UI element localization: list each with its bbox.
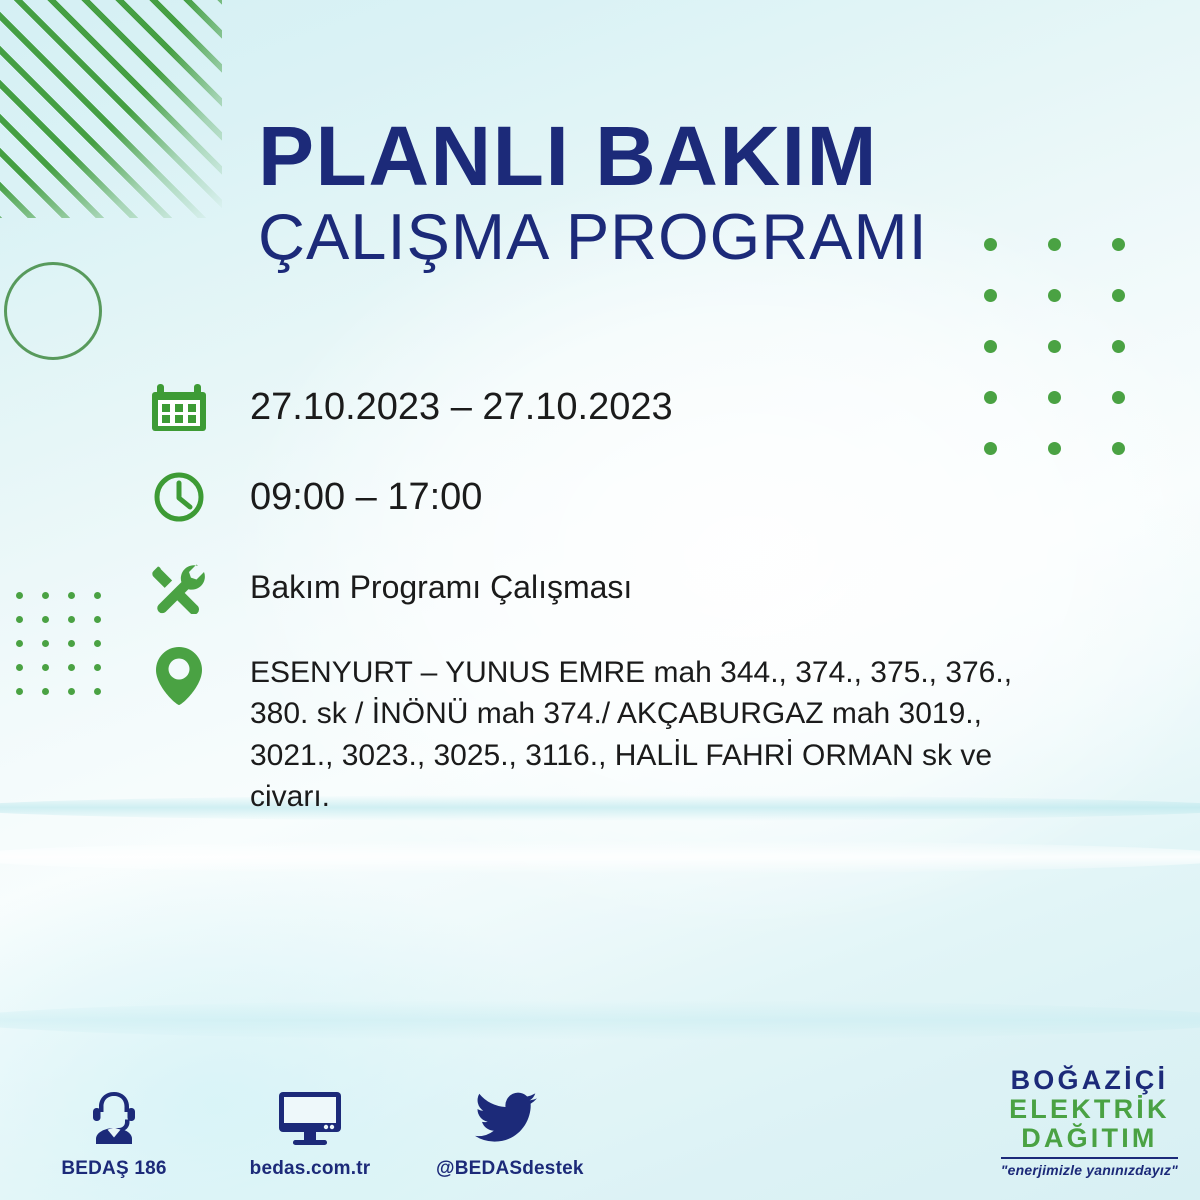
decorative-dot [1048,340,1061,353]
decorative-dot [1048,289,1061,302]
brand-logo: BOĞAZİÇİ ELEKTRİK DAĞITIM "enerjimizle y… [1001,1066,1178,1178]
footer-item-twitter[interactable]: @BEDASdestek [436,1084,576,1180]
dot-grid-decoration-left [0,592,120,712]
footer-label-call-center: BEDAŞ 186 [44,1158,184,1180]
decorative-dot [1048,442,1061,455]
decorative-dot [984,238,997,251]
brand-line-bogazici: BOĞAZİÇİ [1001,1066,1178,1095]
brand-divider [1001,1157,1178,1159]
decorative-dot [68,664,75,671]
location-pin-icon [148,646,210,708]
info-list: 27.10.2023 – 27.10.2023 09:00 – 17:00 [148,376,1048,846]
decorative-dot [16,664,23,671]
decorative-dot [68,616,75,623]
info-row-work: Bakım Programı Çalışması [148,556,1048,618]
decorative-dot [1112,238,1125,251]
brand-line-elektrik: ELEKTRİK [1001,1095,1178,1124]
decorative-dot [16,688,23,695]
info-row-time: 09:00 – 17:00 [148,466,1048,528]
decorative-dot [94,688,101,695]
info-row-location: ESENYURT – YUNUS EMRE mah 344., 374., 37… [148,646,1048,818]
decorative-dot [68,688,75,695]
background-wave-band [0,1000,1200,1040]
decorative-dot [1048,238,1061,251]
decorative-dot [984,289,997,302]
planned-maintenance-poster: PLANLI BAKIM ÇALIŞMA PROGRAMI [0,0,1200,1200]
footer-item-website[interactable]: bedas.com.tr [240,1084,380,1180]
decorative-dot [42,616,49,623]
decorative-dot [42,592,49,599]
decorative-dot [42,688,49,695]
title-sub: ÇALIŞMA PROGRAMI [258,203,978,271]
brand-tagline: "enerjimizle yanınızdayız" [1001,1163,1178,1178]
tools-icon [148,556,210,618]
monitor-icon [240,1084,380,1146]
footer-label-website: bedas.com.tr [240,1158,380,1180]
info-row-date: 27.10.2023 – 27.10.2023 [148,376,1048,438]
decorative-dot [1048,391,1061,404]
clock-icon [148,466,210,528]
decorative-dot [68,640,75,647]
decorative-dot [984,340,997,353]
decorative-dot [42,640,49,647]
support-agent-icon [44,1084,184,1146]
date-range-value: 27.10.2023 – 27.10.2023 [210,376,673,438]
decorative-dot [94,640,101,647]
decorative-dot [94,592,101,599]
decorative-dot [42,664,49,671]
diagonal-stripes-decoration [0,0,222,218]
decorative-dot [16,592,23,599]
time-range-value: 09:00 – 17:00 [210,466,482,528]
footer-item-call-center[interactable]: BEDAŞ 186 [44,1084,184,1180]
brand-line-dagitim: DAĞITIM [1001,1124,1178,1153]
decorative-dot [1112,391,1125,404]
work-type-value: Bakım Programı Çalışması [210,556,632,618]
decorative-dot [16,640,23,647]
decorative-dot [94,616,101,623]
footer-label-twitter: @BEDASdestek [436,1158,576,1180]
twitter-bird-icon [436,1084,576,1146]
decorative-dot [1112,442,1125,455]
decorative-dot [16,616,23,623]
circle-outline-decoration [4,262,102,360]
title-main: PLANLI BAKIM [258,116,978,197]
affected-area-value: ESENYURT – YUNUS EMRE mah 344., 374., 37… [210,646,1020,818]
page-title: PLANLI BAKIM ÇALIŞMA PROGRAMI [258,116,978,271]
decorative-dot [1112,289,1125,302]
decorative-dot [94,664,101,671]
calendar-icon [148,376,210,438]
decorative-dot [1112,340,1125,353]
decorative-dot [68,592,75,599]
footer-contacts: BEDAŞ 186 bedas.com.tr [44,1084,576,1180]
